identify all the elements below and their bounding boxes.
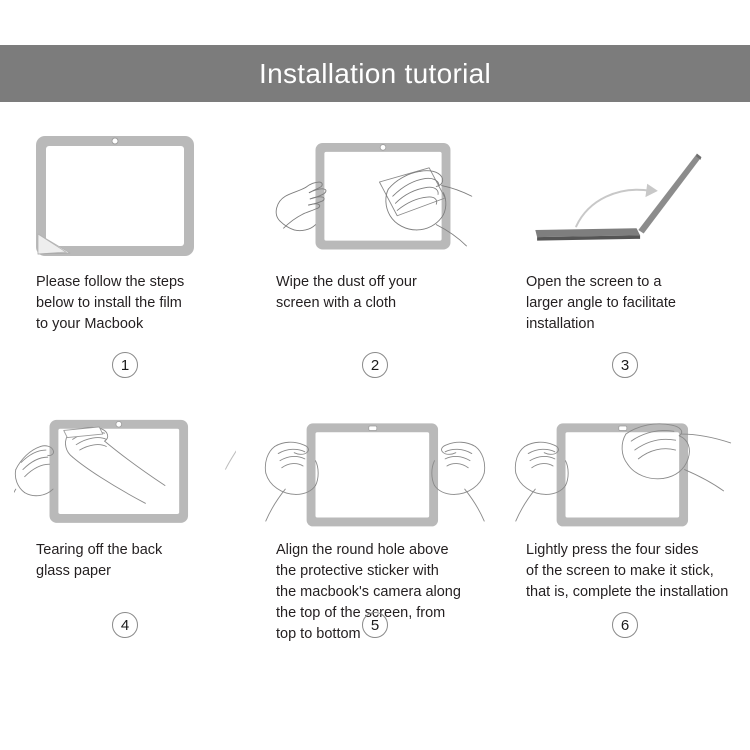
step-number-wrap-4: 4 [0, 612, 250, 638]
step-number-wrap-5: 5 [250, 612, 500, 638]
tablet-with-hands-peeling-backing-icon [14, 396, 236, 536]
tablet-with-hand-and-cloth-icon [264, 128, 486, 268]
step-number-wrap-6: 6 [500, 612, 750, 638]
step-panel-4: Tearing off the back glass paper 4 [0, 396, 250, 664]
step-number-6: 6 [612, 612, 638, 638]
step-number-3: 3 [612, 352, 638, 378]
step-caption-4: Tearing off the back glass paper [14, 540, 162, 582]
step-caption-2: Wipe the dust off your screen with a clo… [264, 272, 417, 314]
step-panel-2: Wipe the dust off your screen with a clo… [250, 128, 500, 396]
step-number-4: 4 [112, 612, 138, 638]
steps-grid: Please follow the steps below to install… [0, 128, 750, 664]
page-title: Installation tutorial [259, 60, 491, 88]
step-panel-5: Align the round hole above the protectiv… [250, 396, 500, 664]
step-panel-6: Lightly press the four sides of the scre… [500, 396, 750, 664]
step-number-2: 2 [362, 352, 388, 378]
tablet-with-hand-pressing-screen-icon [514, 396, 736, 536]
step-number-wrap-3: 3 [500, 352, 750, 378]
step-caption-6: Lightly press the four sides of the scre… [514, 540, 728, 603]
header-band: Installation tutorial [0, 45, 750, 102]
step-caption-3: Open the screen to a larger angle to fac… [514, 272, 676, 335]
step-number-5: 5 [362, 612, 388, 638]
step-panel-1: Please follow the steps below to install… [0, 128, 250, 396]
step-panel-3: Open the screen to a larger angle to fac… [500, 128, 750, 396]
tablet-with-peeling-corner-icon [14, 128, 236, 268]
step-number-1: 1 [112, 352, 138, 378]
tablet-held-by-two-hands-aligning-icon [264, 396, 486, 536]
step-number-wrap-1: 1 [0, 352, 250, 378]
step-number-wrap-2: 2 [250, 352, 500, 378]
laptop-side-view-opening-arrow-icon [514, 128, 736, 268]
step-caption-1: Please follow the steps below to install… [14, 272, 184, 335]
